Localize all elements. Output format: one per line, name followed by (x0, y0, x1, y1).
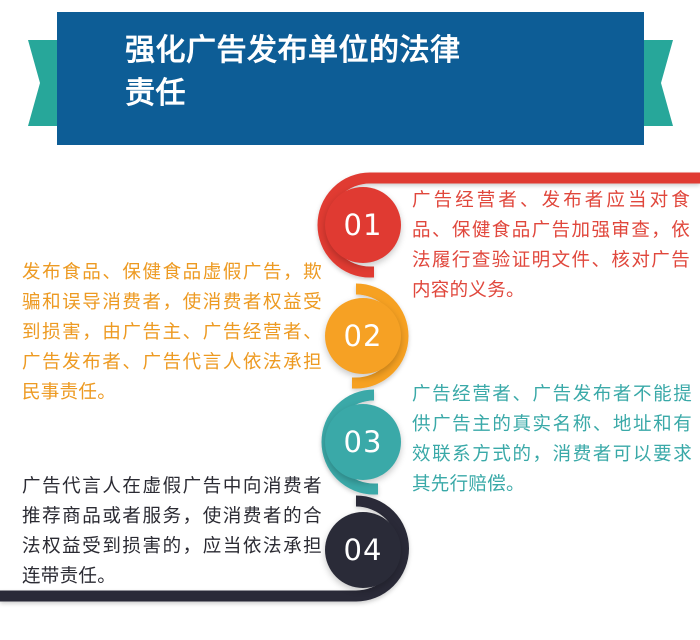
step-circle-03[interactable]: 03 (325, 404, 401, 480)
step-text-04: 广告代言人在虚假广告中向消费者推荐商品或者服务，使消费者的合法权益受到损害的，应… (22, 472, 322, 592)
step-text-03: 广告经营者、广告发布者不能提供广告主的真实名称、地址和有效联系方式的，消费者可以… (412, 380, 692, 500)
step-circle-04[interactable]: 04 (325, 512, 401, 588)
page-title: 强化广告发布单位的法律 责任 (125, 30, 595, 115)
step-circle-02[interactable]: 02 (325, 298, 401, 374)
step-circle-01[interactable]: 01 (325, 187, 401, 263)
infographic-canvas: 强化广告发布单位的法律 责任 01 02 03 04 广告经营者、发布者应当对食… (0, 0, 700, 640)
step-text-02: 发布食品、保健食品虚假广告，欺骗和误导消费者，使消费者权益受到损害，由广告主、广… (22, 258, 322, 408)
header-banner: 强化广告发布单位的法律 责任 (0, 0, 700, 160)
step-text-01: 广告经营者、发布者应当对食品、保健食品广告加强审查，依法履行查验证明文件、核对广… (412, 186, 690, 306)
